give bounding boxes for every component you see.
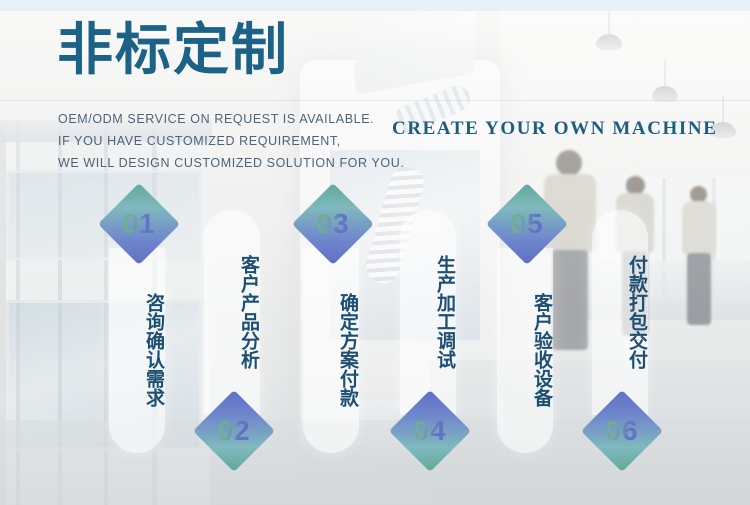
step-label: 确定方案付款 — [303, 262, 359, 438]
step-number: 05 — [500, 197, 554, 251]
process-steps: 咨询确认需求 01 客户产品分析 02 确定方案付款 03 — [0, 0, 750, 505]
step-label: 客户验收设备 — [497, 262, 553, 438]
step-pill: 生产加工调试 — [400, 210, 456, 415]
step-pill: 客户验收设备 — [497, 248, 553, 453]
step-number: 06 — [595, 404, 649, 458]
step-number: 02 — [207, 404, 261, 458]
step-pill: 确定方案付款 — [303, 248, 359, 453]
step-label: 咨询确认需求 — [109, 262, 165, 438]
step-number: 04 — [403, 404, 457, 458]
step-pill: 咨询确认需求 — [109, 248, 165, 453]
step-label: 生产加工调试 — [400, 224, 456, 400]
step-pill: 付款打包交付 — [592, 210, 648, 415]
step-number: 03 — [306, 197, 360, 251]
step-label: 付款打包交付 — [592, 224, 648, 400]
non-standard-customization-banner: 非标定制 OEM/ODM SERVICE ON REQUEST IS AVAIL… — [0, 0, 750, 505]
step-pill: 客户产品分析 — [204, 210, 260, 415]
step-label: 客户产品分析 — [204, 224, 260, 400]
step-number: 01 — [112, 197, 166, 251]
